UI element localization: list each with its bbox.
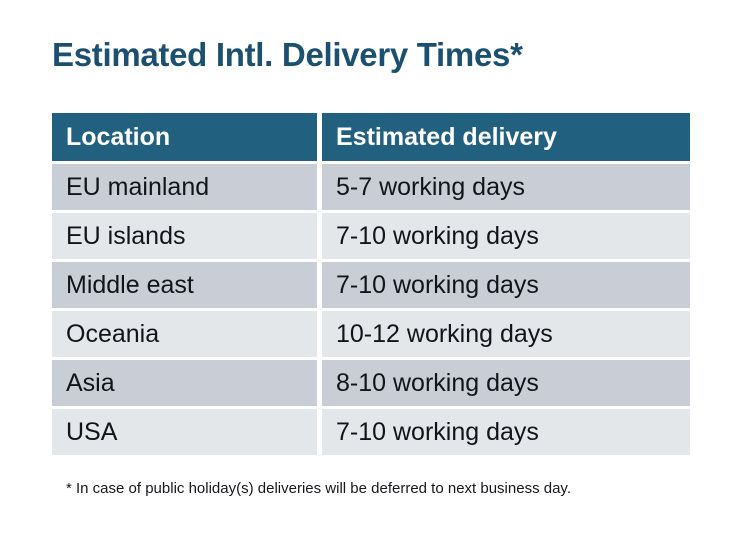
cell-delivery: 8-10 working days — [322, 360, 690, 406]
cell-delivery: 5-7 working days — [322, 164, 690, 210]
table-row: USA 7-10 working days — [52, 409, 690, 455]
column-header-estimated-delivery: Estimated delivery — [322, 113, 690, 161]
table-row: EU mainland 5-7 working days — [52, 164, 690, 210]
cell-location: USA — [52, 409, 317, 455]
cell-location: EU mainland — [52, 164, 317, 210]
cell-delivery: 7-10 working days — [322, 409, 690, 455]
table-row: Oceania 10-12 working days — [52, 311, 690, 357]
cell-delivery: 7-10 working days — [322, 262, 690, 308]
footnote: * In case of public holiday(s) deliverie… — [66, 480, 571, 497]
cell-delivery: 10-12 working days — [322, 311, 690, 357]
column-header-location: Location — [52, 113, 317, 161]
cell-location: EU islands — [52, 213, 317, 259]
delivery-times-page: Estimated Intl. Delivery Times* Location… — [0, 0, 745, 536]
table-header-row: Location Estimated delivery — [52, 113, 690, 161]
cell-delivery: 7-10 working days — [322, 213, 690, 259]
cell-location: Asia — [52, 360, 317, 406]
page-title: Estimated Intl. Delivery Times* — [52, 36, 523, 74]
cell-location: Oceania — [52, 311, 317, 357]
table-row: Middle east 7-10 working days — [52, 262, 690, 308]
cell-location: Middle east — [52, 262, 317, 308]
table-row: EU islands 7-10 working days — [52, 213, 690, 259]
delivery-times-table: Location Estimated delivery EU mainland … — [52, 113, 690, 455]
table-row: Asia 8-10 working days — [52, 360, 690, 406]
